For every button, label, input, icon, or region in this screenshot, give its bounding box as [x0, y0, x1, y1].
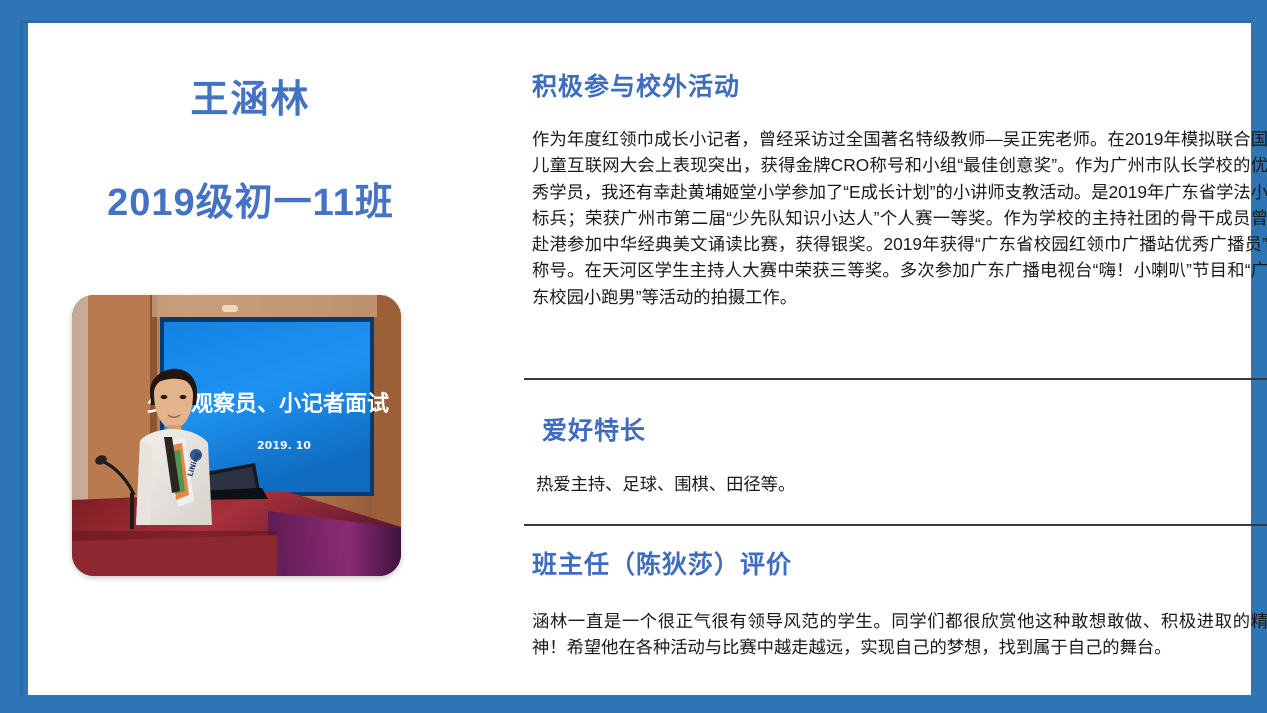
section-heading-activities: 积极参与校外活动 [532, 73, 740, 102]
left-column: 王涵林 2019级初一11班 [28, 23, 473, 695]
section-body-activities: 作为年度红领巾成长小记者，曾经采访过全国著名特级教师—吴正宪老师。在2019年模… [532, 126, 1267, 310]
student-class: 2019级初一11班 [28, 183, 473, 225]
student-photo: 少年观察员、小记者面试 2019. 10 [72, 295, 401, 576]
section-divider-1 [524, 378, 1267, 380]
frame-inner-rule-left [20, 20, 23, 695]
section-heading-hobbies: 爱好特长 [542, 417, 646, 446]
photo-screen-date: 2019. 10 [257, 439, 311, 452]
frame-border-left [0, 0, 28, 713]
student-photo-image: 少年观察员、小记者面试 2019. 10 [72, 295, 401, 576]
section-divider-2 [524, 524, 1267, 526]
slide-content-area: 王涵林 2019级初一11班 [28, 23, 1251, 695]
section-heading-teacher-comment: 班主任（陈狄莎）评价 [532, 551, 792, 580]
student-name: 王涵林 [28, 80, 473, 122]
section-body-teacher-comment: 涵林一直是一个很正气很有领导风范的学生。同学们都很欣赏他这种敢想敢做、积极进取的… [532, 608, 1267, 661]
frame-border-bottom [0, 695, 1267, 713]
section-body-hobbies: 热爱主持、足球、围棋、田径等。 [536, 471, 1267, 497]
right-column: 积极参与校外活动 作为年度红领巾成长小记者，曾经采访过全国著名特级教师—吴正宪老… [496, 23, 1246, 695]
frame-border-right [1251, 0, 1267, 713]
slide: 王涵林 2019级初一11班 [0, 0, 1267, 713]
frame-border-top [0, 0, 1267, 22]
